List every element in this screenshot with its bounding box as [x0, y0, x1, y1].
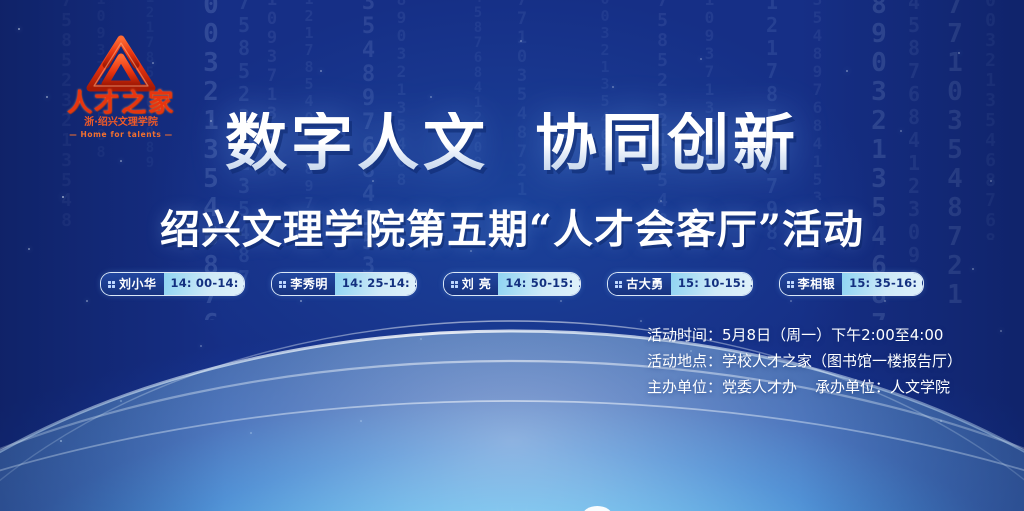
speaker-name: 古大勇 — [626, 278, 664, 290]
event-info-block: 活动时间：5月8日（周一）下午2:00至4:00 活动地点：学校人才之家（图书馆… — [647, 322, 962, 400]
event-location-value: 学校人才之家（图书馆一楼报告厅） — [722, 352, 962, 370]
speaker-name: 刘 亮 — [462, 278, 492, 290]
speaker-name: 李相银 — [798, 278, 836, 290]
speaker-badge[interactable]: 李相银15: 35-16: 00 — [779, 272, 924, 296]
speaker-time-slot: 14: 50-15: 10 — [498, 273, 581, 295]
event-organizer-line: 主办单位：党委人才办承办单位：人文学院 — [647, 374, 962, 400]
page-title: 数字人文协同创新 — [0, 112, 1024, 174]
speaker-schedule-list: 刘小华14: 00-14: 25李秀明14: 25-14: 50刘 亮14: 5… — [0, 272, 1024, 296]
grid-icon — [615, 281, 622, 288]
speaker-time-slot: 15: 35-16: 00 — [842, 273, 924, 295]
event-time-value: 5月8日（周一）下午2:00至4:00 — [722, 326, 943, 344]
speaker-badge[interactable]: 古大勇15: 10-15: 35 — [607, 272, 752, 296]
event-coorganizer-value: 人文学院 — [890, 378, 950, 396]
event-location-line: 活动地点：学校人才之家（图书馆一楼报告厅） — [647, 348, 962, 374]
speaker-name-segment: 李相银 — [780, 273, 843, 295]
event-coorganizer-label: 承办单位： — [815, 378, 890, 396]
speaker-name-segment: 古大勇 — [608, 273, 671, 295]
speaker-name: 李秀明 — [290, 278, 328, 290]
grid-icon — [451, 281, 458, 288]
poster-canvas: 0032135468768454375852321354876845431093… — [0, 0, 1024, 511]
speaker-name: 刘小华 — [119, 278, 157, 290]
headline-part-2: 协同创新 — [535, 106, 799, 179]
event-time-line: 活动时间：5月8日（周一）下午2:00至4:00 — [647, 322, 962, 348]
triangle-knot-icon — [76, 32, 166, 92]
speaker-name-segment: 刘小华 — [101, 273, 164, 295]
grid-icon — [108, 281, 115, 288]
speaker-badge[interactable]: 李秀明14: 25-14: 50 — [271, 272, 416, 296]
event-host-label: 主办单位： — [647, 378, 722, 396]
speaker-time-slot: 14: 00-14: 25 — [164, 273, 246, 295]
speaker-time-slot: 14: 25-14: 50 — [335, 273, 417, 295]
event-host-value: 党委人才办 — [722, 378, 797, 396]
speaker-time-slot: 15: 10-15: 35 — [671, 273, 753, 295]
headline-part-1: 数字人文 — [225, 106, 489, 179]
page-subtitle: 绍兴文理学院第五期“人才会客厅”活动 — [0, 210, 1024, 250]
speaker-name-segment: 李秀明 — [272, 273, 335, 295]
grid-icon — [279, 281, 286, 288]
event-time-label: 活动时间： — [647, 326, 722, 344]
speaker-badge[interactable]: 刘小华14: 00-14: 25 — [100, 272, 245, 296]
speaker-name-segment: 刘 亮 — [444, 273, 499, 295]
speaker-badge[interactable]: 刘 亮14: 50-15: 10 — [443, 272, 582, 296]
grid-icon — [787, 281, 794, 288]
event-location-label: 活动地点： — [647, 352, 722, 370]
